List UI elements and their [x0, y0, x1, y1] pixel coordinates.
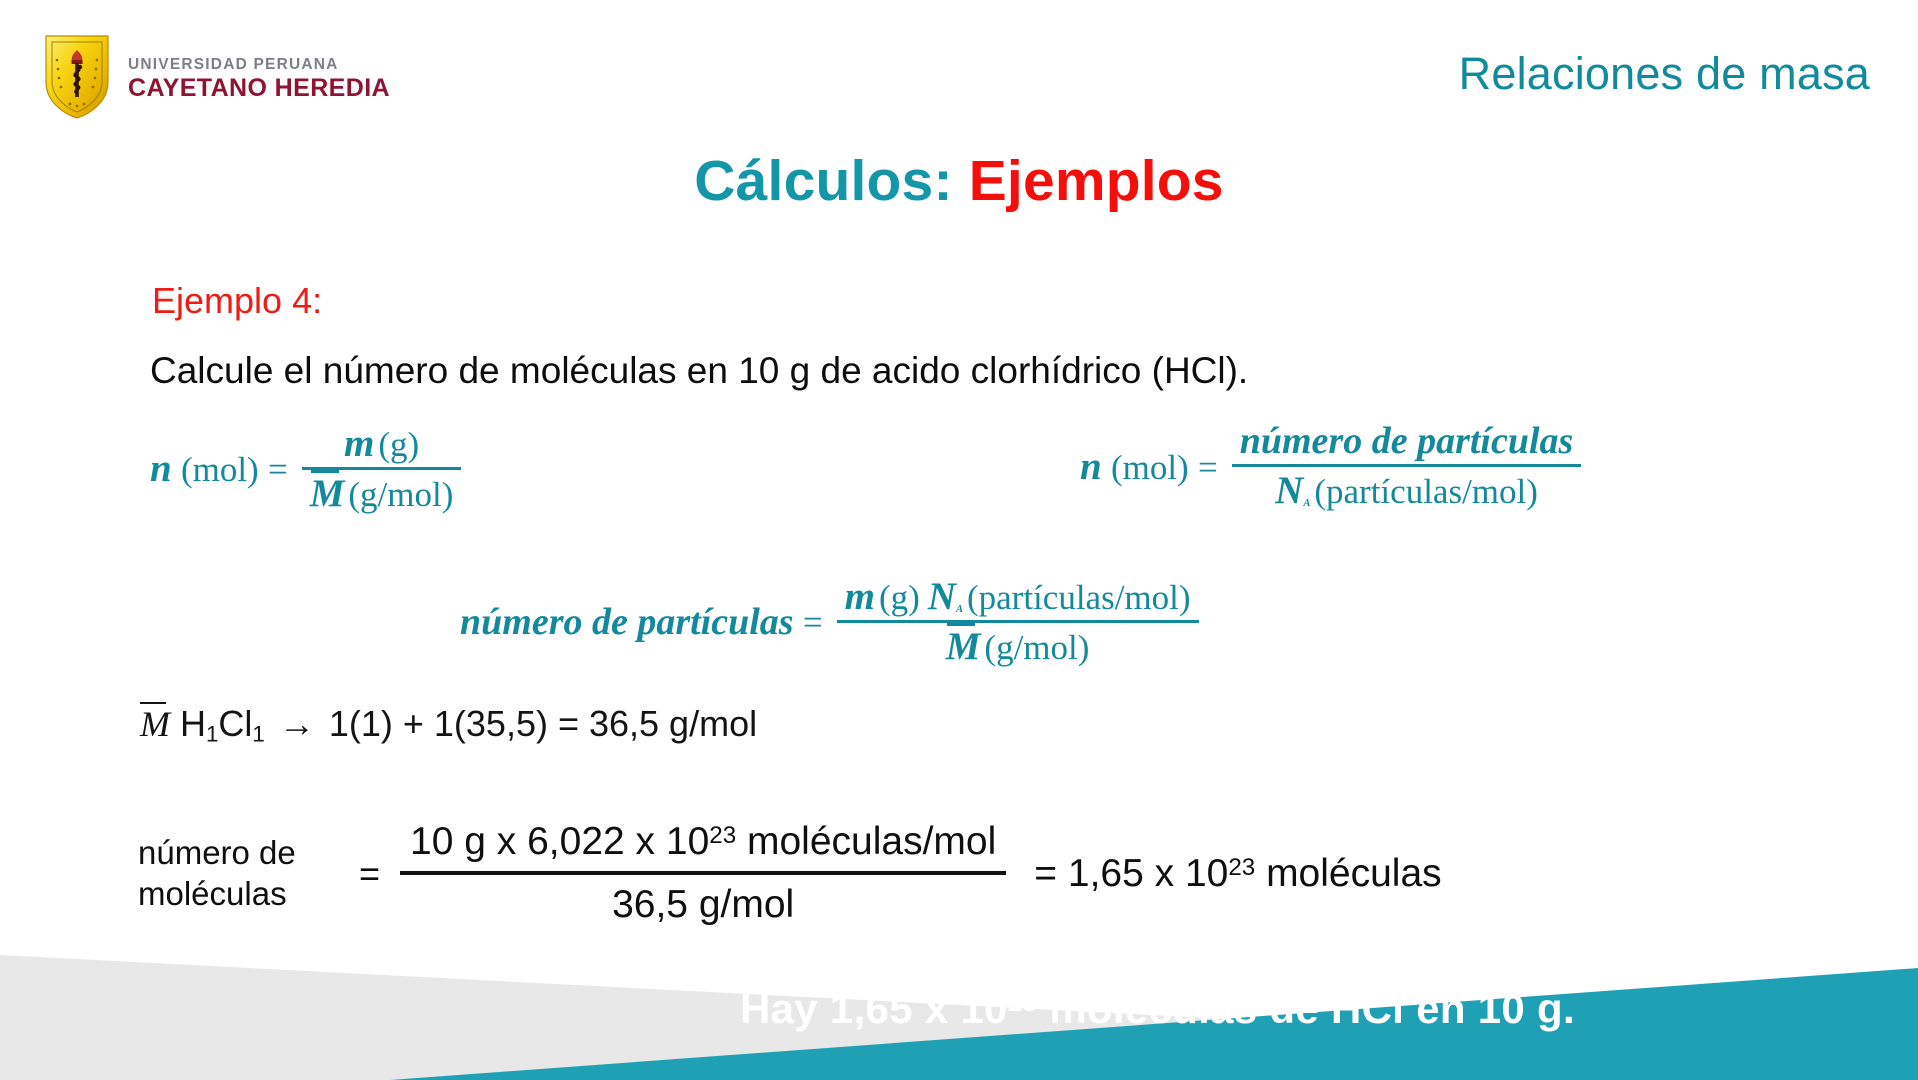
formula-3-lhs: número de partículas = — [460, 600, 823, 644]
formula-3-num-var-na: N — [928, 575, 956, 618]
calculation-equals: = — [359, 853, 380, 895]
formula-3-num-unit-particles: (partículas/mol) — [967, 578, 1191, 617]
calculation-num-suffix: moléculas/mol — [736, 820, 996, 863]
calculation-fraction: 10 g x 6,022 x 1023 moléculas/mol 36,5 g… — [400, 820, 1006, 927]
formula-2-equals: = — [1198, 448, 1218, 487]
question-text: Calcule el número de moléculas en 10 g d… — [150, 350, 1248, 392]
slide-header-title: Relaciones de masa — [1459, 48, 1870, 100]
formula-1-var-n: n — [150, 447, 172, 490]
calculation-result-suffix: moléculas — [1255, 852, 1441, 895]
page-title-part-2: Ejemplos — [969, 149, 1224, 213]
formula-1-num-unit: (g) — [378, 425, 419, 464]
formula-1-num-var-m: m — [344, 422, 374, 465]
shield-icon — [40, 30, 114, 122]
formula-mol-from-particles: n (mol) = número de partículas NA (partí… — [1080, 418, 1581, 514]
molar-mass-element-1: H — [180, 703, 206, 744]
formula-2-lhs: n (mol) = — [1080, 444, 1218, 489]
main-calculation: número de moléculas = 10 g x 6,022 x 102… — [138, 820, 1442, 927]
page-title-part-1: Cálculos: — [694, 149, 952, 213]
banner-exponent: 23 — [1008, 987, 1038, 1017]
molar-mass-element-2: Cl — [218, 703, 252, 744]
formula-2-unit-mol: (mol) — [1111, 448, 1189, 487]
molar-mass-symbol: M — [140, 703, 170, 745]
banner-prefix: Hay 1,65 x 10 — [740, 985, 1008, 1032]
formula-1-denominator: M (g/mol) — [302, 470, 462, 517]
calculation-result-prefix: 1,65 x 10 — [1068, 852, 1228, 895]
calculation-label-line-1: número de — [138, 833, 353, 874]
formula-2-fraction: número de partículas NA (partículas/mol) — [1232, 418, 1582, 514]
formula-1-unit-mol: (mol) — [181, 450, 259, 489]
formula-3-num-var-m: m — [845, 575, 875, 618]
calculation-num-exponent: 23 — [709, 822, 736, 849]
formula-3-lhs-text: número de partículas — [460, 601, 794, 643]
formula-3-denominator: M (g/mol) — [938, 623, 1098, 670]
formula-particles: número de partículas = m (g) NA (partícu… — [460, 573, 1199, 670]
university-logo: UNIVERSIDAD PERUANA CAYETANO HEREDIA — [40, 30, 390, 122]
formula-mol-from-mass: n (mol) = m (g) M (g/mol) — [150, 420, 461, 517]
slide-canvas: UNIVERSIDAD PERUANA CAYETANO HEREDIA Rel… — [0, 0, 1918, 1080]
logo-line-2: CAYETANO HEREDIA — [128, 76, 390, 101]
molar-mass-compound: H1Cl1 — [180, 703, 265, 748]
formula-1-numerator: m (g) — [336, 420, 427, 467]
formula-3-num-unit-g: (g) — [879, 578, 920, 617]
molar-mass-sub-1: 1 — [206, 722, 218, 747]
formula-1-fraction: m (g) M (g/mol) — [302, 420, 462, 517]
formula-1-den-var-molar-mass: M — [310, 471, 345, 516]
molar-mass-arrow: → — [279, 703, 315, 745]
page-title: Cálculos: Ejemplos — [0, 148, 1918, 214]
calculation-result-exponent: 23 — [1228, 853, 1255, 880]
formula-2-denominator: NA (partículas/mol) — [1267, 467, 1546, 514]
formula-2-var-n: n — [1080, 445, 1102, 488]
conclusion-banner-text: Hay 1,65 x 1023 moléculas de HCl en 10 g… — [740, 985, 1575, 1033]
calculation-num-prefix: 10 g x 6,022 x 10 — [410, 820, 709, 863]
formula-2-den-var-na: N — [1275, 469, 1303, 512]
formula-3-den-unit: (g/mol) — [984, 628, 1089, 667]
example-label: Ejemplo 4: — [152, 280, 322, 322]
formula-3-fraction: m (g) NA (partículas/mol) M (g/mol) — [837, 573, 1199, 670]
calculation-label-line-2: moléculas — [138, 874, 353, 915]
formula-3-numerator: m (g) NA (partículas/mol) — [837, 573, 1199, 620]
molar-mass-line: M H1Cl1 → 1(1) + 1(35,5) = 36,5 g/mol — [140, 703, 757, 748]
formula-2-numerator: número de partículas — [1232, 418, 1582, 464]
logo-line-1: UNIVERSIDAD PERUANA — [128, 57, 390, 73]
calculation-label: número de moléculas — [138, 833, 353, 915]
molar-mass-expression: 1(1) + 1(35,5) = 36,5 g/mol — [329, 703, 757, 745]
formula-1-equals: = — [268, 450, 288, 489]
formula-2-den-subscript: A — [1303, 498, 1310, 509]
formula-3-den-var-molar-mass: M — [946, 624, 981, 669]
calculation-numerator: 10 g x 6,022 x 1023 moléculas/mol — [400, 820, 1006, 871]
formula-3-equals: = — [803, 603, 823, 642]
logo-wordmark: UNIVERSIDAD PERUANA CAYETANO HEREDIA — [128, 51, 390, 101]
banner-suffix: moléculas de HCl en 10 g. — [1037, 985, 1575, 1032]
formula-2-den-unit: (partículas/mol) — [1314, 472, 1538, 511]
calculation-result-equals: = — [1034, 852, 1057, 895]
formula-3-num-subscript: A — [956, 604, 963, 615]
formula-1-lhs: n (mol) = — [150, 446, 288, 491]
calculation-result: = 1,65 x 1023 moléculas — [1034, 852, 1441, 896]
molar-mass-sub-2: 1 — [252, 722, 264, 747]
formula-2-num-text: número de partículas — [1240, 420, 1574, 462]
formula-1-den-unit: (g/mol) — [348, 475, 453, 514]
